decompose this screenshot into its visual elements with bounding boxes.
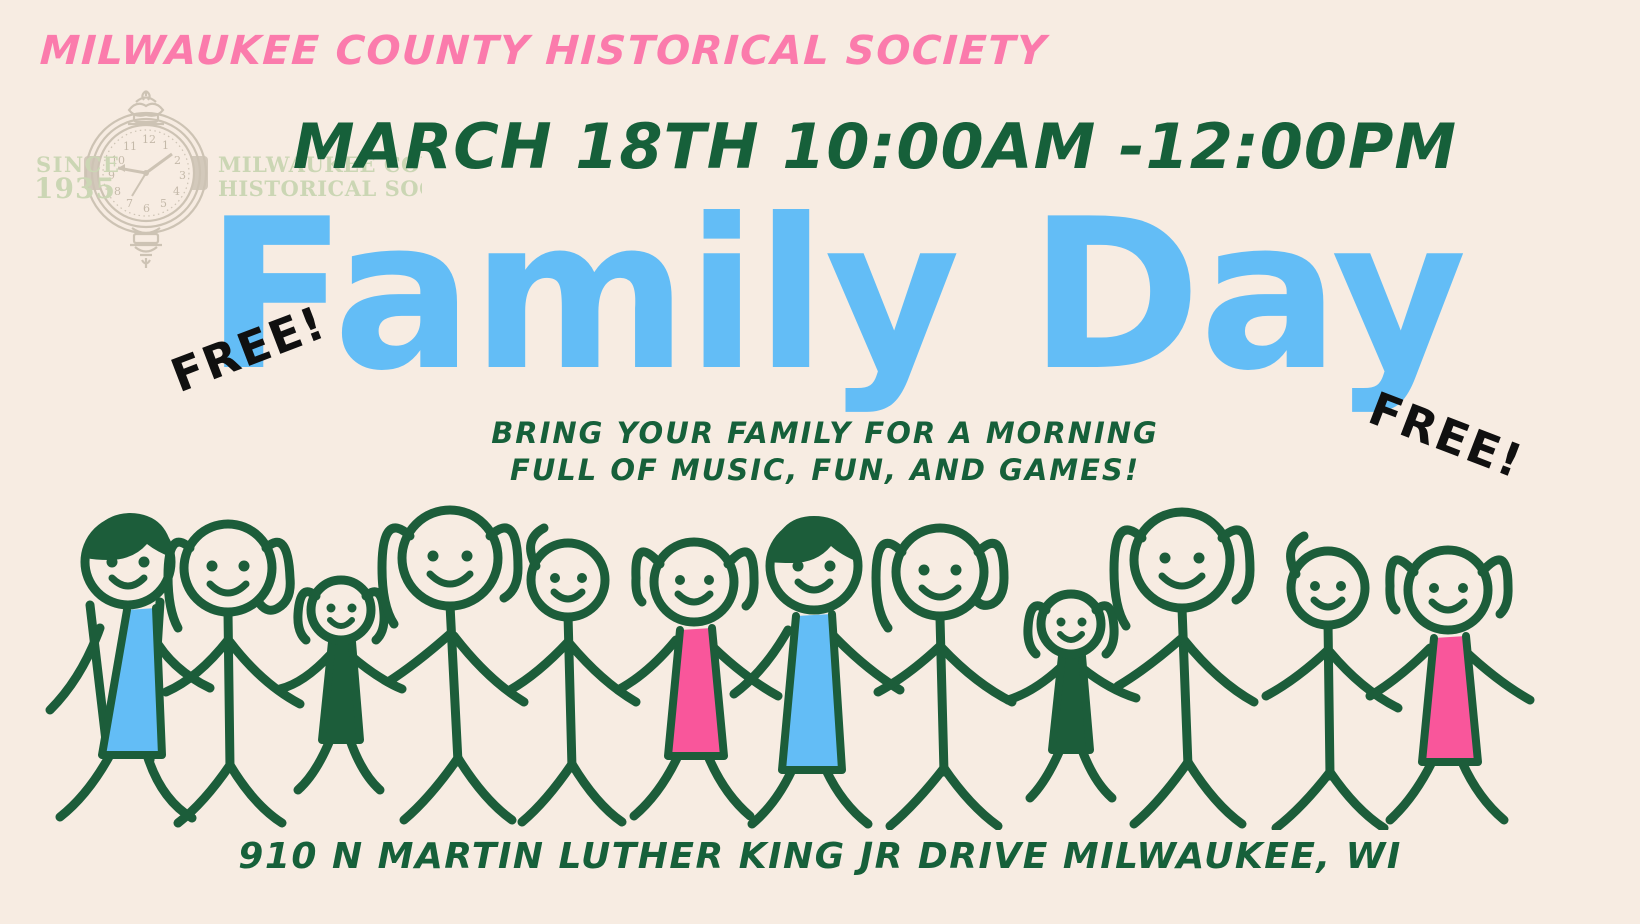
event-flyer: 12 1 2 3 4 5 6 7 8 9 10 11 SINCE 1935 MI… (0, 0, 1640, 924)
venue-address: 910 N MARTIN LUTHER KING JR DRIVE MILWAU… (0, 836, 1640, 877)
figure-9-child-green-dress (1008, 594, 1136, 798)
figure-4-long-hair (382, 510, 524, 820)
figure-5-plain (510, 528, 636, 822)
figure-8-long-hair (876, 528, 1012, 826)
stick-figure-family-illustration (30, 500, 1610, 830)
figure-11-plain (1266, 536, 1398, 828)
figure-10-long-hair (1114, 512, 1254, 824)
event-description-line2: FULL OF MUSIC, FUN, AND GAMES! (10, 452, 1640, 489)
figure-12-pigtails-pink-dress (1370, 550, 1530, 820)
event-date-time: MARCH 18TH 10:00AM -12:00PM (0, 110, 1640, 183)
organization-name: MILWAUKEE COUNTY HISTORICAL SOCIETY (39, 28, 1049, 74)
